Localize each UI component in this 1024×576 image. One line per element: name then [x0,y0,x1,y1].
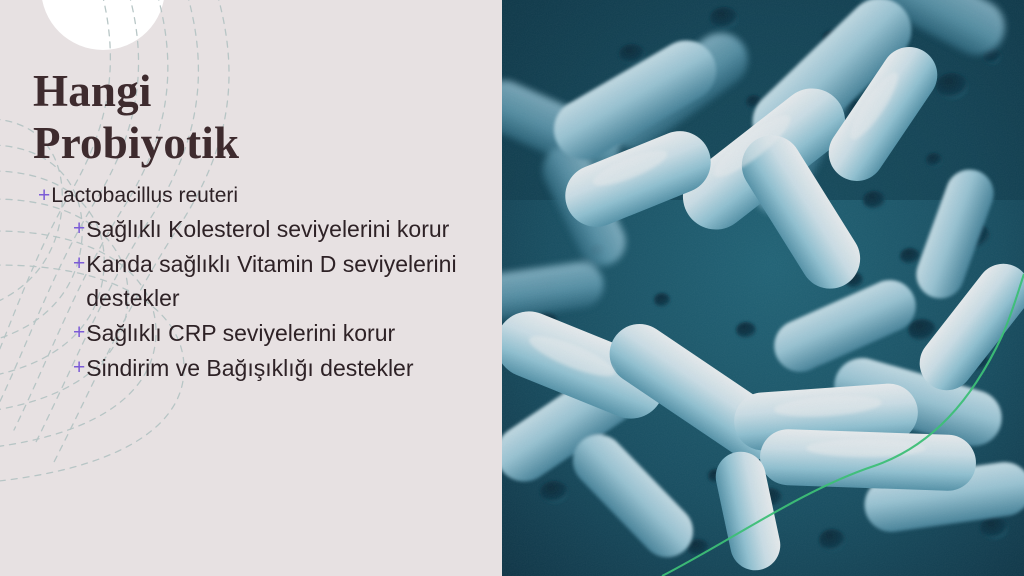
bacteria-micrograph-image [502,0,1024,576]
list-item: + Lactobacillus reuteri [38,180,488,211]
list-item: + Kanda sağlıklı Vitamin D seviyelerini … [73,247,488,315]
list-item-label: Sağlıklı Kolesterol seviyelerini korur [86,212,488,246]
list-item-label: Sindirim ve Bağışıklığı destekler [86,351,488,385]
page-title: Hangi Probiyotik [33,65,463,169]
text-column: Hangi Probiyotik + Lactobacillus reuteri… [0,0,502,576]
bullet-plus-icon: + [73,247,86,281]
list-item-label: Lactobacillus reuteri [51,180,488,211]
list-item: + Sağlıklı CRP seviyelerini korur [73,316,488,350]
bullet-plus-icon: + [73,212,86,246]
bullet-list: + Lactobacillus reuteri + Sağlıklı Koles… [38,180,488,386]
bullet-plus-icon: + [73,351,86,385]
bullet-plus-icon: + [38,180,51,211]
list-item-label: Sağlıklı CRP seviyelerini korur [86,316,488,350]
slide-canvas: Hangi Probiyotik + Lactobacillus reuteri… [0,0,1024,576]
list-item: + Sağlıklı Kolesterol seviyelerini korur [73,212,488,246]
list-item-label: Kanda sağlıklı Vitamin D seviyelerini de… [86,247,488,315]
micrograph-graphic [502,0,1024,576]
bullet-plus-icon: + [73,316,86,350]
list-item: + Sindirim ve Bağışıklığı destekler [73,351,488,385]
